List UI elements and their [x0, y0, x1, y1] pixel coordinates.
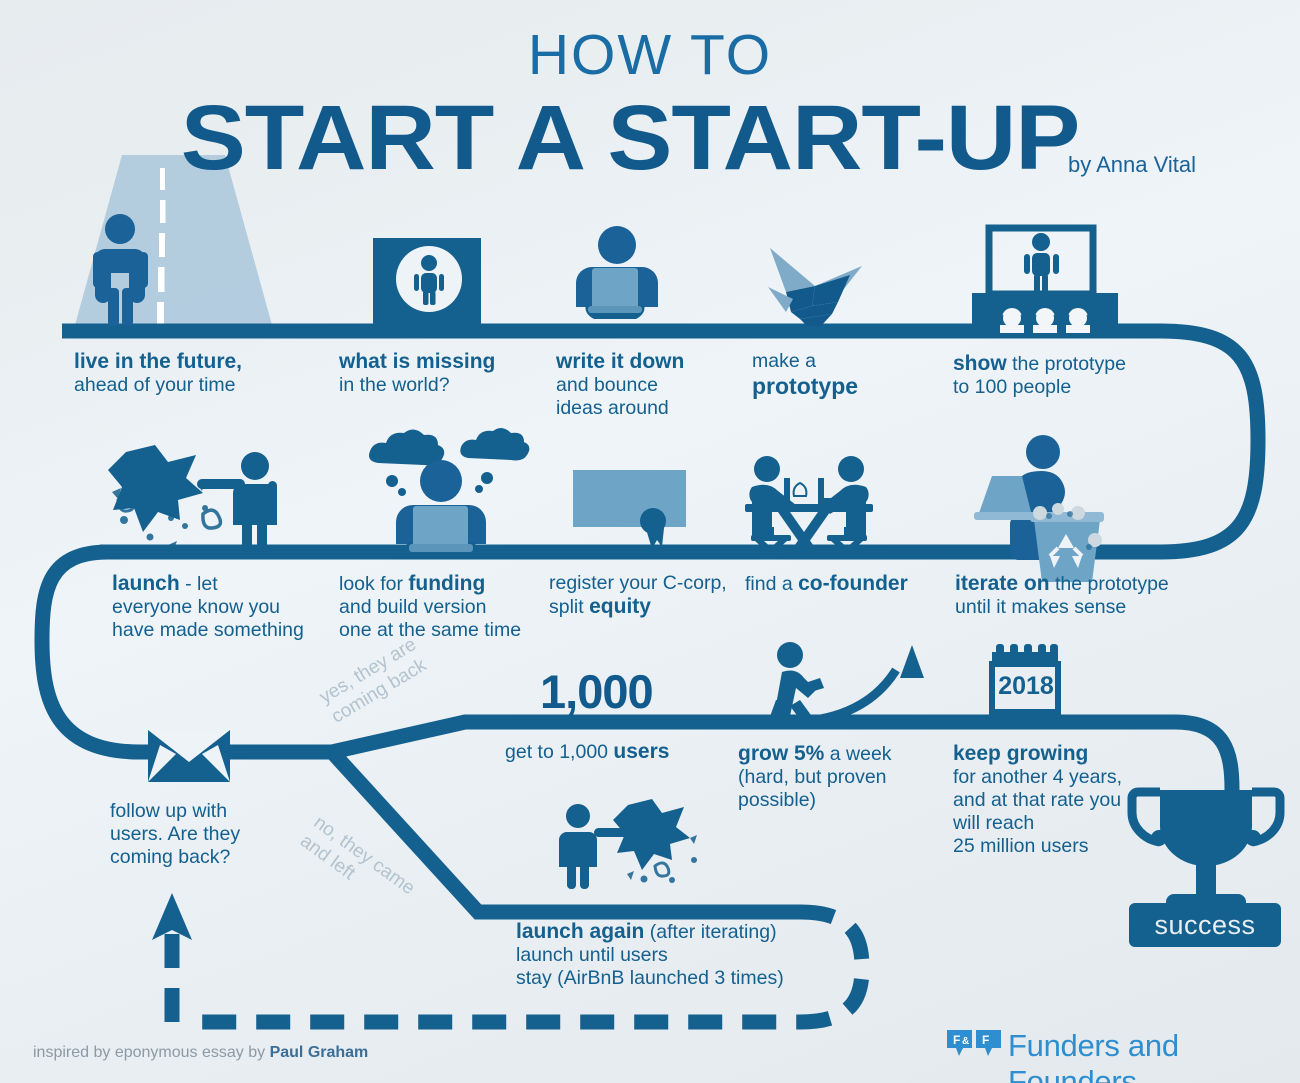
step-label-bold: co-founder	[798, 572, 908, 595]
step-label-line5: 25 million users	[953, 835, 1088, 857]
step-label-line2: everyone know you	[112, 596, 280, 618]
growth-arrow-icon	[768, 642, 924, 722]
step-write-it-down: write it down and bounce ideas around	[556, 350, 746, 420]
step-label-bold: launch again	[516, 920, 644, 943]
step-label-line2: in the world?	[339, 374, 450, 396]
funders-and-founders-logo-icon: F & F	[946, 1028, 1002, 1058]
step-label-pre: get to 1,000	[505, 741, 613, 763]
calendar-year-label: 2018	[995, 672, 1057, 701]
step-label-bold: grow 5%	[738, 742, 824, 765]
step-label-line3: one at the same time	[339, 619, 521, 641]
step-label-line2: until it makes sense	[955, 596, 1126, 618]
step-label-bold: what is missing	[339, 350, 495, 373]
step-label-rest: (after iterating)	[644, 921, 776, 943]
confetti-cannon-icon	[108, 445, 277, 552]
step-label-line2: and bounce	[556, 374, 658, 396]
step-launch: launch - let everyone know you have made…	[112, 572, 342, 642]
step-label-bold: launch	[112, 572, 180, 595]
svg-text:F: F	[982, 1033, 989, 1047]
origami-crane-icon	[768, 248, 862, 327]
step-label-line3: coming back?	[110, 846, 230, 868]
step-label-line3: possible)	[738, 789, 816, 811]
footer-credit-pre: inspired by eponymous essay by	[33, 1044, 270, 1061]
footer-credit: inspired by eponymous essay by Paul Grah…	[33, 1044, 368, 1062]
big-number-1000: 1,000	[540, 664, 653, 719]
step-label-line3: stay (AirBnB launched 3 times)	[516, 967, 784, 989]
step-label-line4: will reach	[953, 812, 1034, 834]
step-show-the-prototype: show the prototype to 100 people	[953, 352, 1183, 399]
person-on-road-icon	[93, 214, 148, 326]
step-label-line3: ideas around	[556, 397, 669, 419]
step-label-bold: write it down	[556, 350, 684, 373]
step-what-is-missing: what is missing in the world?	[339, 350, 554, 397]
page-title: START A START-UP	[153, 86, 1107, 191]
laptop-on-recycle-bin-icon	[974, 435, 1104, 582]
footer-credit-author: Paul Graham	[270, 1044, 369, 1061]
step-label-rest: a week	[824, 743, 891, 765]
certificate-icon	[573, 470, 686, 549]
thought-clouds-laptop-icon	[369, 428, 529, 557]
step-label-pre: look for	[339, 573, 408, 595]
step-live-in-the-future: live in the future, ahead of your time	[74, 350, 324, 397]
step-label-bold: show	[953, 352, 1007, 375]
page-title-line1: HOW TO	[0, 22, 1300, 88]
step-label-line2: users. Are they	[110, 823, 240, 845]
missing-piece-icon	[373, 238, 481, 326]
step-label-bold: iterate on	[955, 572, 1050, 595]
step-label-line2: (hard, but proven	[738, 766, 887, 788]
svg-text:&: &	[962, 1036, 969, 1047]
presentation-icon	[972, 228, 1118, 333]
infographic-canvas: HOW TO START A START-UP by Anna Vital li…	[0, 0, 1300, 1083]
step-label-pre2: split	[549, 596, 589, 618]
step-find-a-co-founder: find a co-founder	[745, 572, 945, 596]
step-label-rest: the prototype	[1007, 353, 1126, 375]
step-label-line3: and at that rate you	[953, 789, 1121, 811]
step-label-bold: funding	[408, 572, 485, 595]
step-grow-5-percent: grow 5% a week (hard, but proven possibl…	[738, 742, 943, 812]
step-label-bold: prototype	[752, 373, 858, 399]
byline: by Anna Vital	[1068, 152, 1196, 178]
step-label-rest: the prototype	[1050, 573, 1169, 595]
step-label-bold: keep growing	[953, 742, 1088, 765]
envelope-icon	[148, 730, 230, 782]
step-make-a-prototype: make a prototype	[752, 350, 932, 400]
step-look-for-funding: look for funding and build version one a…	[339, 572, 554, 642]
step-label-bold: live in the future,	[74, 350, 242, 373]
success-badge: success	[1129, 903, 1281, 947]
step-label-line2: launch until users	[516, 944, 668, 966]
step-label-line1: register your C-corp,	[549, 572, 727, 594]
step-label-line2: ahead of your time	[74, 374, 236, 396]
step-label-rest: - let	[180, 573, 218, 595]
two-people-table-icon	[745, 456, 873, 557]
confetti-cannon-small-icon	[559, 799, 697, 889]
step-label-line2: to 100 people	[953, 376, 1071, 398]
step-label-line2: and build version	[339, 596, 486, 618]
step-register-c-corp: register your C-corp, split equity	[549, 572, 744, 619]
trophy-icon	[1132, 790, 1280, 908]
step-label-line1: follow up with	[110, 800, 227, 822]
step-label-pre: make a	[752, 350, 816, 372]
step-get-to-1000-users: get to 1,000 users	[505, 740, 735, 764]
step-iterate-on-prototype: iterate on the prototype until it makes …	[955, 572, 1205, 619]
step-launch-again: launch again (after iterating) launch un…	[516, 920, 856, 990]
brand-name: Funders and Founders	[1008, 1028, 1300, 1083]
step-label-line3: have made something	[112, 619, 304, 641]
step-keep-growing: keep growing for another 4 years, and at…	[953, 742, 1153, 858]
step-label-bold: equity	[589, 595, 651, 618]
step-follow-up-with-users: follow up with users. Are they coming ba…	[110, 800, 320, 869]
person-with-laptop-icon	[576, 226, 658, 319]
step-label-pre: find a	[745, 573, 798, 595]
step-label-line2: for another 4 years,	[953, 766, 1122, 788]
step-label-bold: users	[613, 740, 669, 763]
svg-text:F: F	[953, 1033, 960, 1047]
